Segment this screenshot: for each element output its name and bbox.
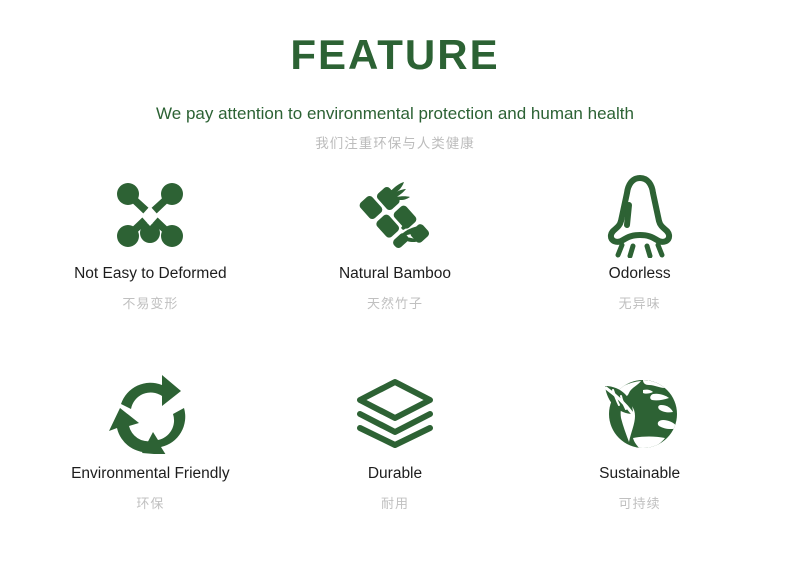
molecule-lattice-icon [113, 167, 187, 263]
feature-item: Not Easy to Deformed 不易变形 [28, 167, 273, 363]
feature-label-cn: 耐用 [381, 496, 409, 512]
feature-section: FEATURE We pay attention to environmenta… [0, 0, 790, 576]
feature-label-cn: 不易变形 [122, 296, 178, 312]
feature-label-en: Sustainable [599, 465, 680, 484]
bamboo-icon [358, 167, 432, 263]
feature-grid: Not Easy to Deformed 不易变形 [0, 167, 790, 559]
feature-label-en: Odorless [609, 265, 671, 284]
feature-item: Sustainable 可持续 [517, 363, 762, 559]
feature-label-cn: 可持续 [619, 496, 661, 512]
nose-icon [602, 167, 678, 263]
subtitle-english: We pay attention to environmental protec… [0, 104, 790, 124]
section-header: FEATURE We pay attention to environmenta… [0, 0, 790, 153]
feature-label-cn: 天然竹子 [367, 296, 423, 312]
feature-label-en: Environmental Friendly [71, 465, 230, 484]
feature-label-en: Durable [368, 465, 422, 484]
feature-label-cn: 环保 [136, 496, 164, 512]
layers-icon [352, 363, 438, 463]
feature-item: Environmental Friendly 环保 [28, 363, 273, 559]
feature-label-en: Not Easy to Deformed [74, 265, 226, 284]
page-title: FEATURE [0, 34, 790, 76]
subtitle-chinese: 我们注重环保与人类健康 [0, 136, 790, 152]
recycle-icon [109, 363, 191, 463]
feature-label-en: Natural Bamboo [339, 265, 451, 284]
globe-leaf-icon [599, 363, 681, 463]
feature-item: Natural Bamboo 天然竹子 [273, 167, 518, 363]
feature-label-cn: 无异味 [619, 296, 661, 312]
feature-item: Odorless 无异味 [517, 167, 762, 363]
feature-item: Durable 耐用 [273, 363, 518, 559]
